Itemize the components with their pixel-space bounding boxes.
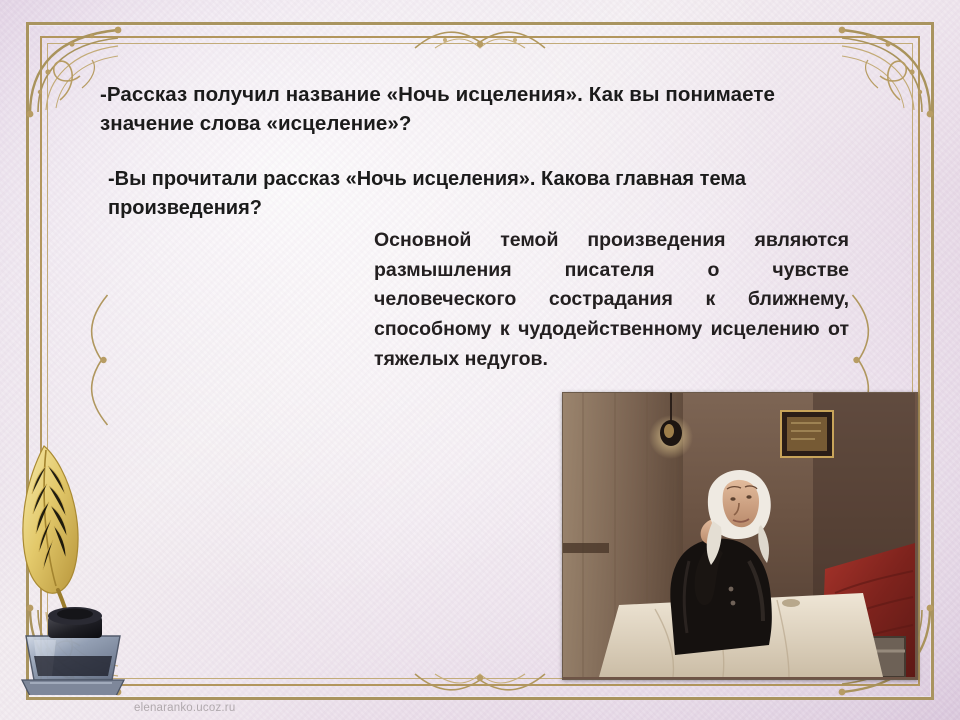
edge-ornament-bottom-icon [405,661,555,700]
question-one-text: -Рассказ получил название «Ночь исцелени… [100,80,820,138]
painting-image [562,392,918,680]
slide-canvas: -Рассказ получил название «Ночь исцелени… [0,0,960,720]
corner-ornament-bottom-left-icon [26,604,138,700]
watermark-text: elenaranko.ucoz.ru [134,702,235,714]
corner-ornament-top-right-icon [822,22,934,118]
edge-ornament-top-icon [405,22,555,61]
edge-ornament-left-icon [82,285,121,435]
quill-and-inkwell-icon [8,440,158,695]
answer-text: Основной темой произведения являются раз… [374,226,849,374]
question-two-text: -Вы прочитали рассказ «Ночь исцеления». … [108,165,808,223]
